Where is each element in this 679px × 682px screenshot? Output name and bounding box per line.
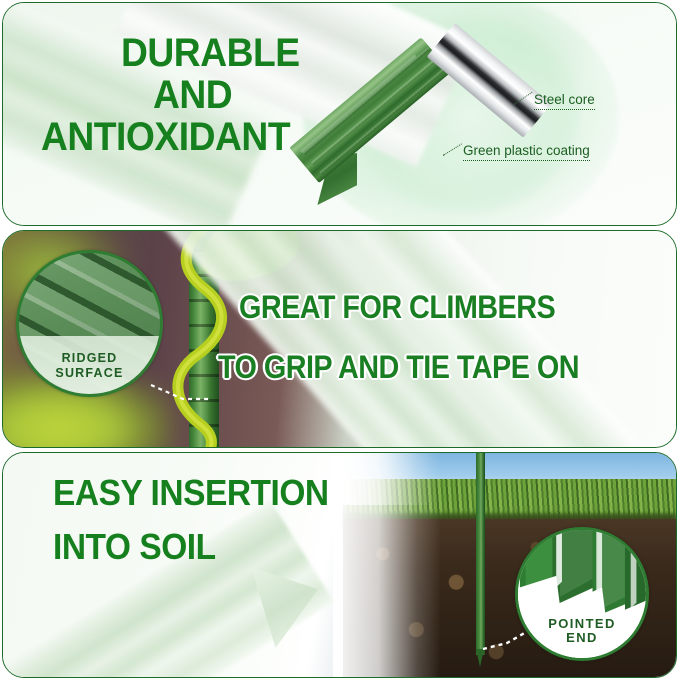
stake-inserted-tip xyxy=(476,649,484,667)
panel-1-headline-line-1: DURABLE xyxy=(121,33,300,74)
panel-3-headline-line-1: EASY INSERTION xyxy=(53,475,329,512)
panel-1-headline-line-3: ANTIOXIDANT xyxy=(41,117,290,158)
panel-2-headline-line-1: GREAT FOR CLIMBERS xyxy=(239,289,555,326)
panel-2-headline-line-2: TO GRIP AND TIE TAPE ON xyxy=(218,349,579,386)
product-feature-infographic: DURABLE AND ANTIOXIDANT Steel core Green… xyxy=(0,0,679,682)
panel-easy-insertion: EASY INSERTION INTO SOIL POINTED xyxy=(2,452,677,678)
panel-1-headline-line-2: AND xyxy=(153,75,232,116)
scene-fade-overlay xyxy=(333,453,441,677)
pointed-end-label-line-1: POINTED xyxy=(548,617,616,632)
pointed-end-label-line-2: END xyxy=(566,631,598,646)
green-plastic-coating-label: Green plastic coating xyxy=(463,143,590,161)
ridged-surface-label-line-2: SURFACE xyxy=(55,366,123,380)
panel-durable-antioxidant: DURABLE AND ANTIOXIDANT Steel core Green… xyxy=(2,2,677,226)
panel-3-headline-line-2: INTO SOIL xyxy=(53,529,216,566)
ridged-surface-zoom-callout: RIDGED SURFACE xyxy=(16,250,163,397)
panel-great-for-climbers: GREAT FOR CLIMBERS TO GRIP AND TIE TAPE … xyxy=(2,230,677,448)
pointed-end-label-block: POINTED END xyxy=(518,617,646,646)
pointed-end-zoom-callout: POINTED END xyxy=(515,527,649,661)
ridged-surface-label-line-1: RIDGED xyxy=(62,351,118,365)
ridged-surface-label-band: RIDGED SURFACE xyxy=(19,336,160,394)
steel-core-label: Steel core xyxy=(534,92,595,110)
